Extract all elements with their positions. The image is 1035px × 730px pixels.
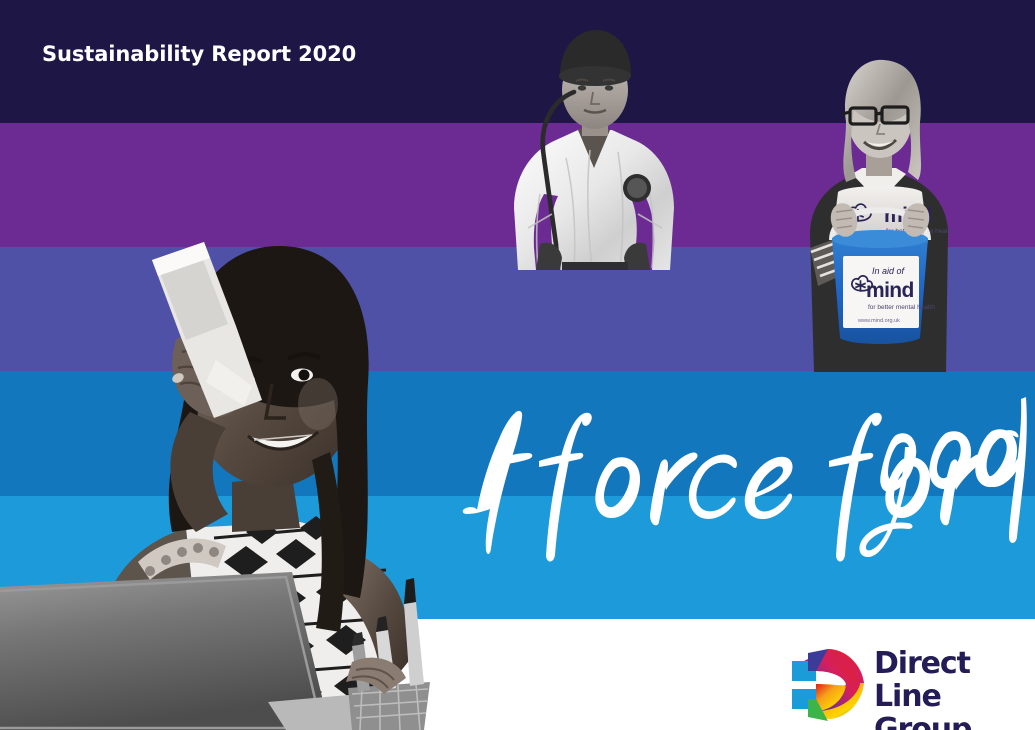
direct-line-group-wordmark: Direct Line Group bbox=[874, 647, 1023, 730]
page-title: Sustainability Report 2020 bbox=[42, 42, 356, 66]
svg-text:for better mental health: for better mental health bbox=[868, 304, 935, 311]
photo-call-centre-agent bbox=[0, 232, 490, 730]
headline-good bbox=[856, 395, 1035, 585]
direct-line-group-logo-mark bbox=[788, 645, 872, 725]
wordmark-line-1: Direct Line bbox=[874, 647, 1023, 713]
direct-line-group-logo: Direct Line Group bbox=[788, 645, 1023, 725]
report-cover-page: mind for better mental health In aid of … bbox=[0, 0, 1035, 730]
svg-text:mind: mind bbox=[866, 279, 914, 302]
svg-text:www.mind.org.uk: www.mind.org.uk bbox=[857, 318, 900, 324]
photo-charity-bucket: mind for better mental health In aid of … bbox=[788, 52, 970, 372]
svg-text:In aid of: In aid of bbox=[872, 266, 906, 276]
wordmark-line-2: Group bbox=[874, 713, 1023, 730]
photo-beekeeper bbox=[478, 18, 694, 270]
